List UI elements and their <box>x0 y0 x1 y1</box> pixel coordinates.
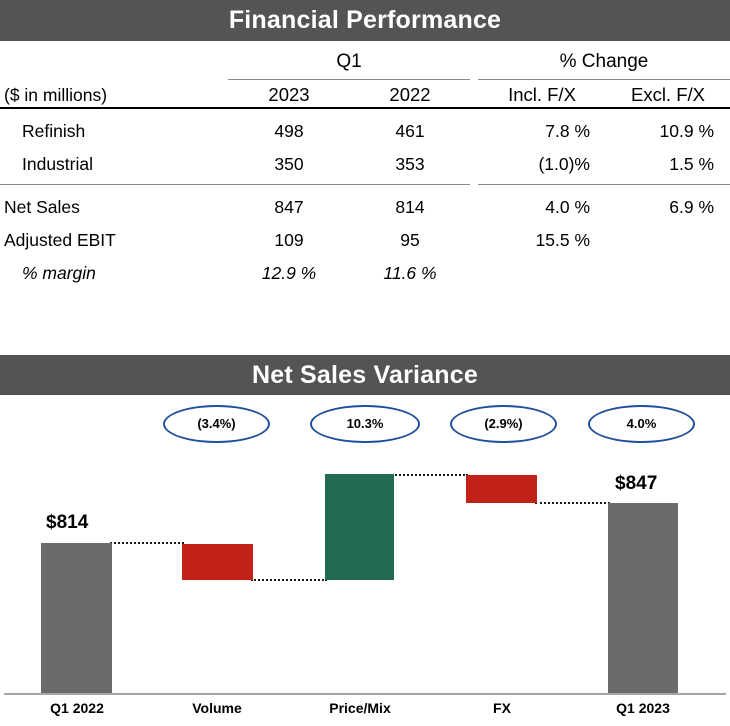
column-header-2022: 2022 <box>350 80 470 106</box>
spacer-cell <box>470 142 478 175</box>
cell-excl-fx: 1.5 % <box>606 142 730 175</box>
connector-q1-2022-volume <box>110 542 184 544</box>
cell-2022: 11.6 % <box>350 251 470 284</box>
connector-fx-q1-2023 <box>535 502 610 504</box>
callout-total: 4.0% <box>588 405 695 443</box>
subtotal-rule-right <box>478 175 730 185</box>
cell-2023: 847 <box>228 185 350 218</box>
callout-price-mix: 10.3% <box>310 405 420 443</box>
column-header-excl-fx: Excl. F/X <box>606 80 730 106</box>
net-sales-variance-chart: (3.4%) 10.3% (2.9%) 4.0% $814 $847 Q1 20… <box>0 395 730 726</box>
table-group-header-row: Q1 % Change <box>0 47 730 73</box>
cell-incl-fx: 15.5 % <box>478 218 606 251</box>
chart-axis-line <box>4 693 726 695</box>
financial-performance-table: Q1 % Change ($ in millions) 2023 2022 <box>0 47 730 284</box>
subtotal-rule-left <box>0 175 470 185</box>
group-header-change: % Change <box>478 47 730 73</box>
callout-fx: (2.9%) <box>450 405 557 443</box>
table-group-rule-row <box>0 73 730 80</box>
spacer-cell <box>0 73 228 80</box>
category-label-price-mix: Price/Mix <box>318 700 402 716</box>
net-sales-variance-title: Net Sales Variance <box>0 355 730 395</box>
rule-change <box>478 73 730 80</box>
group-header-period: Q1 <box>228 47 470 73</box>
connector-volume-price-mix <box>251 579 327 581</box>
spacer-cell <box>470 251 478 284</box>
table-row: Net Sales 847 814 4.0 % 6.9 % <box>0 185 730 218</box>
unit-label: ($ in millions) <box>0 80 228 106</box>
cell-incl-fx: (1.0)% <box>478 142 606 175</box>
rule-period <box>228 73 470 80</box>
cell-2023: 109 <box>228 218 350 251</box>
spacer-cell <box>470 185 478 218</box>
category-label-volume: Volume <box>176 700 258 716</box>
row-label: Adjusted EBIT <box>0 218 228 251</box>
table-column-header-row: ($ in millions) 2023 2022 Incl. F/X Excl… <box>0 80 730 106</box>
callout-volume: (3.4%) <box>163 405 270 443</box>
spacer-cell <box>470 218 478 251</box>
bar-label-q1-2022: $814 <box>46 512 88 534</box>
cell-2022: 353 <box>350 142 470 175</box>
table-row: Refinish 498 461 7.8 % 10.9 % <box>0 109 730 142</box>
column-header-incl-fx: Incl. F/X <box>478 80 606 106</box>
financial-performance-title: Financial Performance <box>0 0 730 41</box>
table-row: % margin 12.9 % 11.6 % <box>0 251 730 284</box>
cell-excl-fx <box>606 251 730 284</box>
bar-fx <box>466 475 537 503</box>
row-label: Refinish <box>0 109 228 142</box>
cell-excl-fx <box>606 218 730 251</box>
row-label: Net Sales <box>0 185 228 218</box>
bar-q1-2022 <box>41 543 112 693</box>
table-subtotal-divider <box>0 175 730 185</box>
spacer-cell <box>470 80 478 106</box>
category-label-q1-2022: Q1 2022 <box>36 700 118 716</box>
cell-incl-fx: 7.8 % <box>478 109 606 142</box>
cell-2022: 95 <box>350 218 470 251</box>
spacer-cell <box>470 109 478 142</box>
bar-q1-2023 <box>608 503 678 693</box>
cell-incl-fx <box>478 251 606 284</box>
cell-excl-fx: 6.9 % <box>606 185 730 218</box>
spacer-cell <box>470 175 478 185</box>
cell-excl-fx: 10.9 % <box>606 109 730 142</box>
spacer-cell <box>470 47 478 73</box>
row-label: % margin <box>0 251 228 284</box>
column-header-2023: 2023 <box>228 80 350 106</box>
row-label: Industrial <box>0 142 228 175</box>
cell-2023: 12.9 % <box>228 251 350 284</box>
table-row: Industrial 350 353 (1.0)% 1.5 % <box>0 142 730 175</box>
bar-label-q1-2023: $847 <box>615 473 657 495</box>
spacer-cell <box>0 47 228 73</box>
table-row: Adjusted EBIT 109 95 15.5 % <box>0 218 730 251</box>
connector-price-mix-fx <box>392 474 468 476</box>
bar-volume <box>182 544 253 580</box>
category-label-q1-2023: Q1 2023 <box>602 700 684 716</box>
bar-price-mix <box>325 474 394 580</box>
spacer-cell <box>470 73 478 80</box>
cell-2022: 814 <box>350 185 470 218</box>
cell-2023: 350 <box>228 142 350 175</box>
cell-2023: 498 <box>228 109 350 142</box>
cell-incl-fx: 4.0 % <box>478 185 606 218</box>
cell-2022: 461 <box>350 109 470 142</box>
category-label-fx: FX <box>461 700 543 716</box>
